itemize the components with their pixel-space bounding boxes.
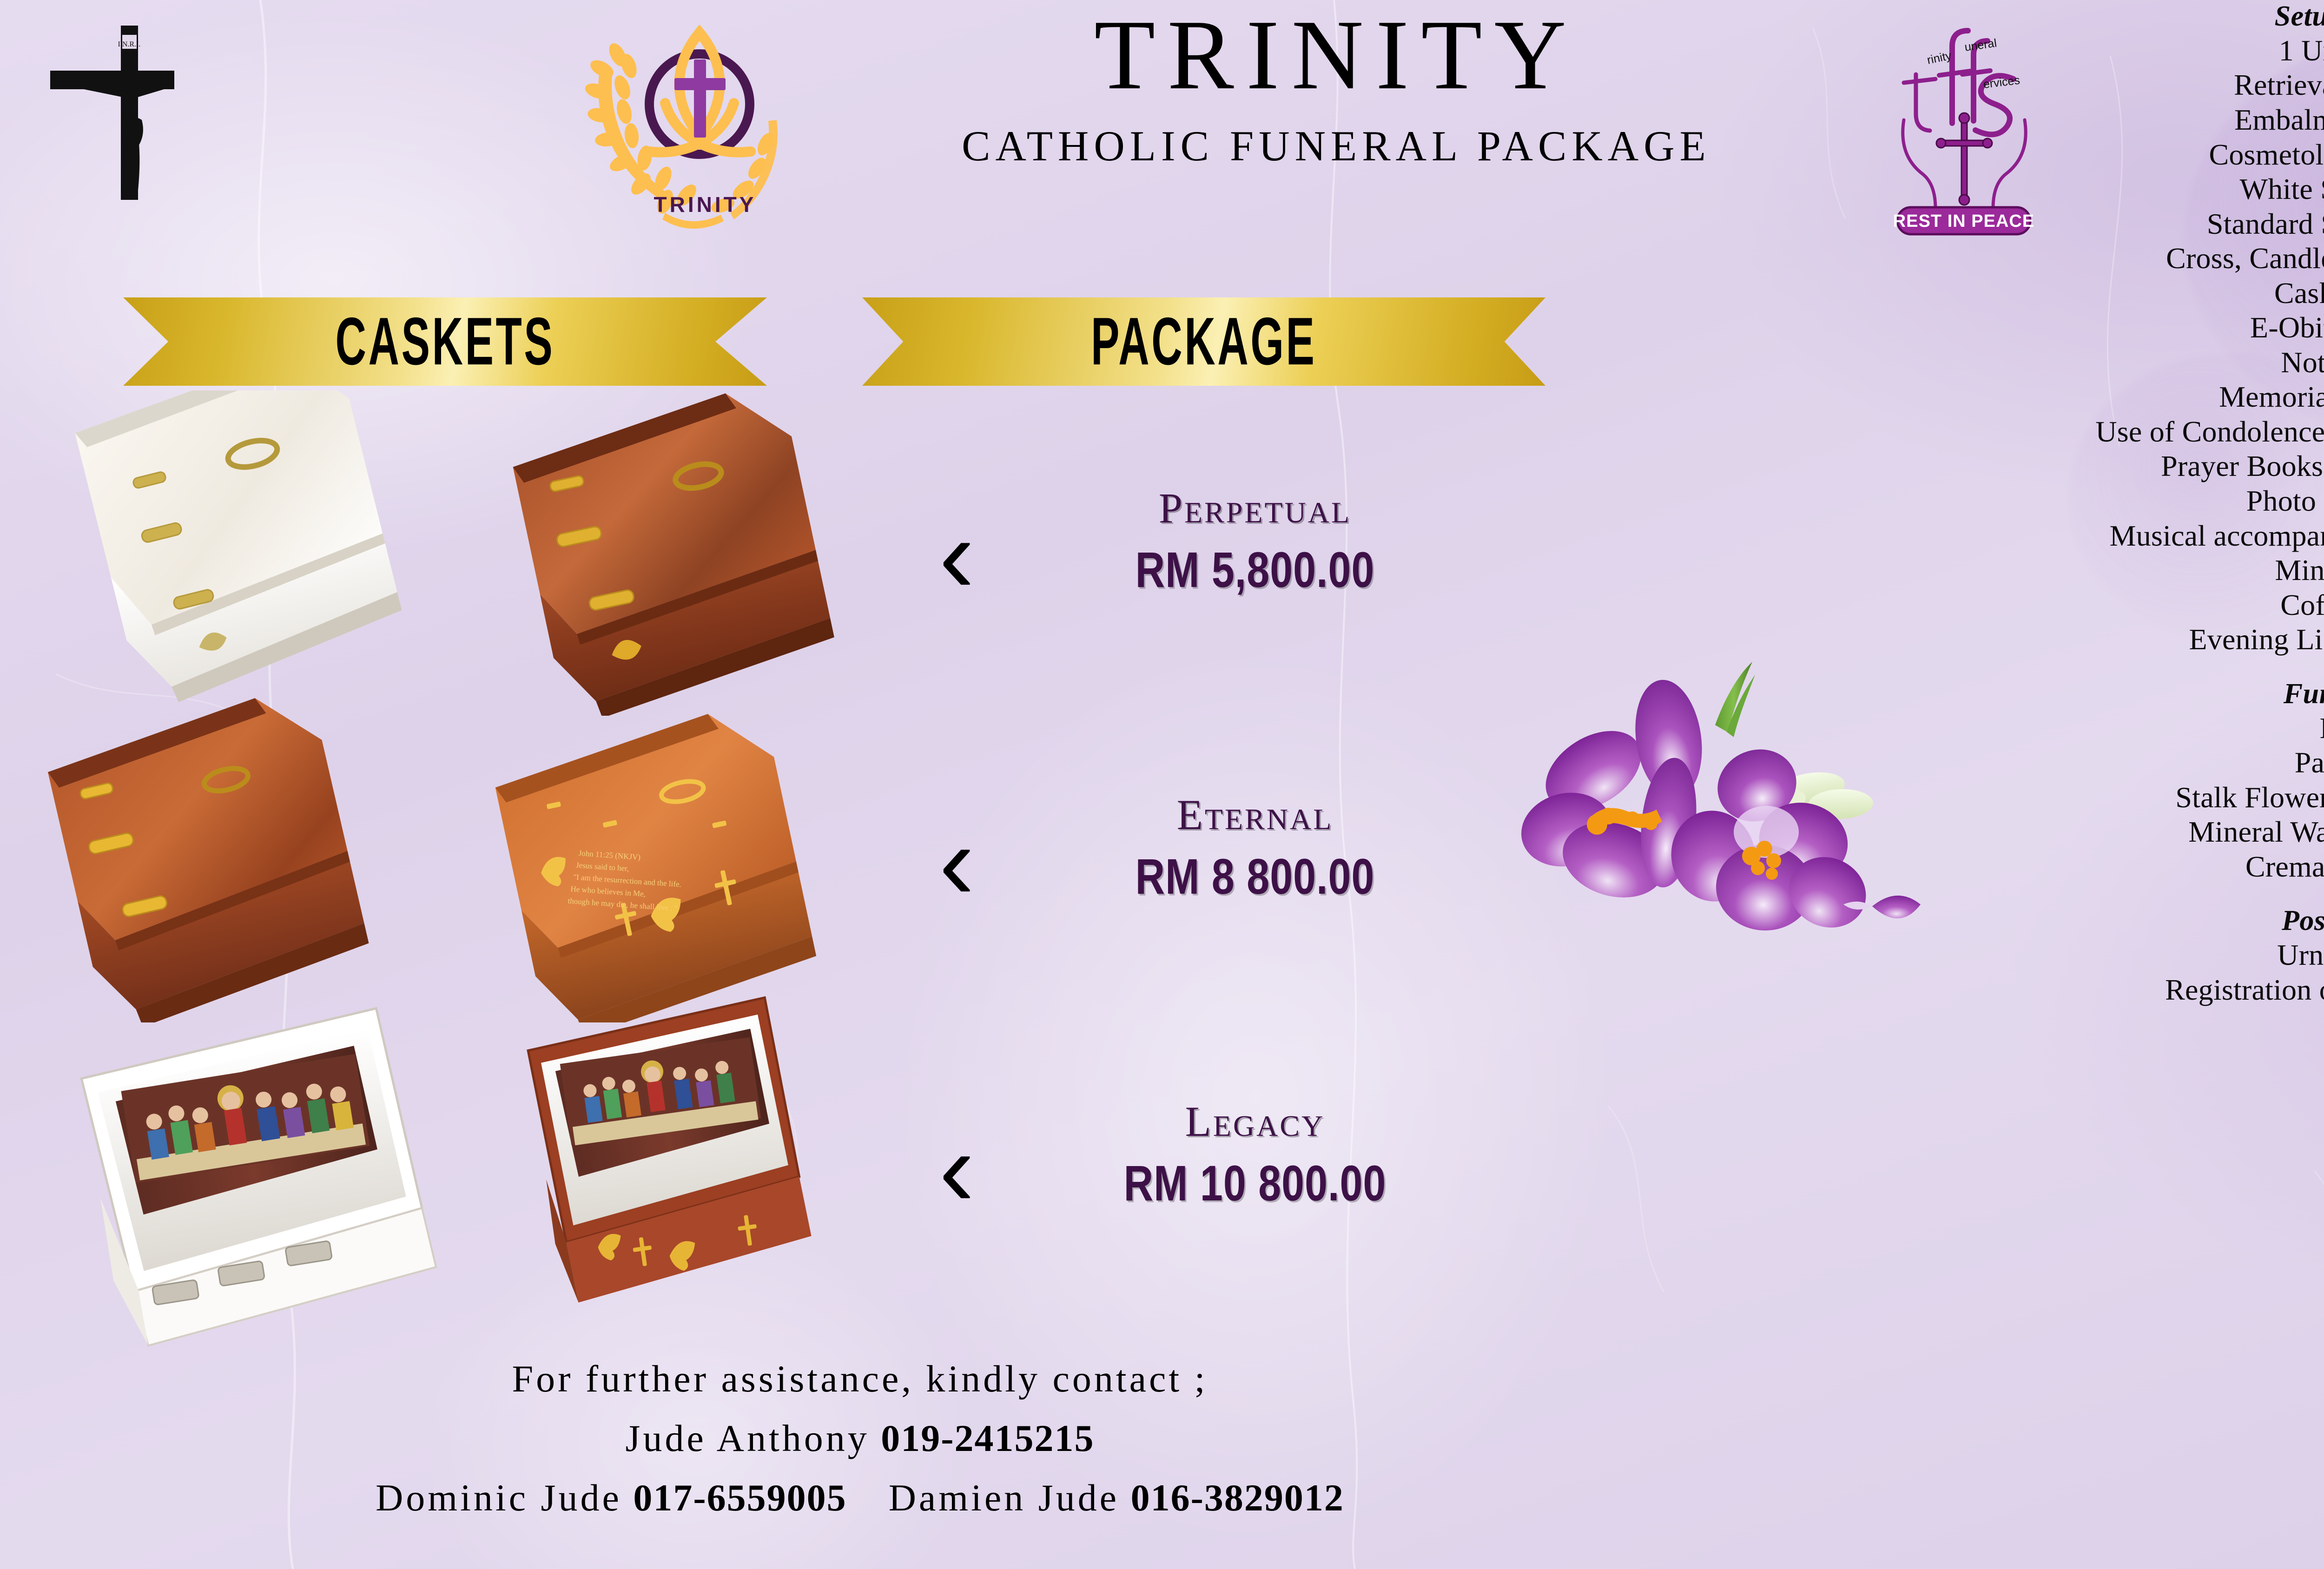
service-item: Cross, Candle Stands & Candles (1943, 241, 2324, 276)
service-item: E-Obituary Notice (1943, 310, 2324, 345)
service-item: Mineral Water / Face Towels (1943, 815, 2324, 850)
service-item: 1 Unit Casket (1943, 33, 2324, 68)
service-item: Cosmetology & Dressing (1943, 138, 2324, 172)
svg-text:I.N.R.I.: I.N.R.I. (118, 40, 141, 48)
package-perpetual-name: Perpetual (995, 483, 1515, 533)
spacer (1943, 884, 2324, 904)
poster-canvas: I.N.R.I. (0, 0, 2324, 1569)
page-subtitle: CATHOLIC FUNERAL PACKAGE (813, 121, 1859, 171)
trinity-logo: TRINITY (583, 5, 779, 237)
service-item: Stalk Flowers for Final Tribute (1943, 780, 2324, 815)
service-item: Hearse (1943, 711, 2324, 746)
casket-images-eternal: John 11:25 (NKJV) Jesus said to her, "I … (0, 697, 930, 1022)
service-item: White Satin Blanket (1943, 172, 2324, 207)
contact-name-2: Dominic Jude (376, 1477, 622, 1519)
contact-phone-2[interactable]: 017-6559005 (633, 1477, 846, 1519)
contact-phone-1[interactable]: 019-2415215 (881, 1417, 1094, 1459)
services-items-setup: 1 Unit CasketRetrieval of RemainsEmbalmi… (1943, 33, 2324, 657)
services-heading-funeral-day: Funeral Day (1943, 678, 2324, 711)
service-item: Prayer Books & Holy Water Font (1943, 449, 2324, 484)
trinity-logo-word: TRINITY (654, 192, 757, 217)
contact-name-1: Jude Anthony (625, 1417, 869, 1459)
package-legacy: Legacy RM 10 800.00 (995, 1097, 1515, 1202)
crucifix-icon: I.N.R.I. (26, 0, 174, 200)
service-item: Registration of Death Certificate (1943, 973, 2324, 1008)
page-title: TRINITY (813, 5, 1859, 105)
service-item: Cremation Charges (1943, 850, 2324, 884)
contact-person-3: Damien Jude 016-3829012 (889, 1476, 1344, 1520)
chevron-left-icon-legacy: ‹ (939, 1115, 975, 1222)
contact-person-2: Dominic Jude 017-6559005 (376, 1476, 847, 1520)
contact-person-1: Jude Anthony 019-2415215 (56, 1417, 1664, 1460)
package-legacy-price: RM 10 800.00 (995, 1154, 1515, 1212)
service-item: Musical accompaniment throughout wake (1943, 519, 2324, 554)
services-items-funeral-day: HearsePallbearersStalk Flowers for Final… (1943, 711, 2324, 884)
contact-phone-3[interactable]: 016-3829012 (1131, 1477, 1344, 1519)
service-item: Embalming / Dry Ice (1943, 103, 2324, 138)
crocus-flower-image (1515, 646, 1934, 962)
package-perpetual-price: RM 5,800.00 (995, 541, 1515, 599)
package-legacy-name: Legacy (995, 1097, 1515, 1146)
contact-intro: For further assistance, kindly contact ; (56, 1357, 1664, 1401)
contact-block: For further assistance, kindly contact ;… (56, 1357, 1664, 1520)
services-list: Setup of Wake 1 Unit CasketRetrieval of … (1943, 0, 2324, 1007)
service-item: Notice Board (1943, 345, 2324, 380)
casket-images-legacy (0, 995, 906, 1348)
service-item: Use of Condolence Token Box & Envelopes (1943, 415, 2324, 449)
casket-images-perpetual (0, 390, 930, 716)
ribbon-package-label: PACKAGE (1091, 303, 1316, 381)
services-items-post-funeral: Urn for AshesRegistration of Death Certi… (1943, 938, 2324, 1007)
service-item: Mineral Water (1943, 553, 2324, 588)
package-eternal: Eternal RM 8 800.00 (995, 790, 1515, 895)
service-item: Urn for Ashes (1943, 938, 2324, 973)
spacer (1943, 657, 2324, 678)
service-item: Coffee & Tea (1943, 588, 2324, 623)
service-item: Memorial Record Book (1943, 380, 2324, 415)
package-perpetual: Perpetual RM 5,800.00 (995, 483, 1515, 588)
service-item: Photo Enlargement (1943, 484, 2324, 519)
service-item: Evening Light Refreshments (1943, 622, 2324, 657)
contact-name-3: Damien Jude (889, 1477, 1119, 1519)
services-heading-setup: Setup of Wake (1943, 0, 2324, 33)
ribbon-caskets: CASKETS (123, 297, 767, 386)
chevron-left-icon-perpetual: ‹ (939, 502, 975, 609)
package-eternal-price: RM 8 800.00 (995, 848, 1515, 905)
package-eternal-name: Eternal (995, 790, 1515, 839)
service-item: Standard Set of Backdrop (1943, 207, 2324, 242)
service-item: Pallbearers (1943, 745, 2324, 780)
service-item: Casket Flower (1943, 276, 2324, 311)
ribbon-package: PACKAGE (862, 297, 1545, 386)
services-heading-post-funeral: Post Funeral (1943, 904, 2324, 938)
contact-row-bottom: Dominic Jude 017-6559005 Damien Jude 016… (56, 1476, 1664, 1520)
ribbon-caskets-label: CASKETS (336, 303, 555, 381)
service-item: Retrieval of Remains (1943, 68, 2324, 103)
chevron-left-icon-eternal: ‹ (939, 809, 975, 916)
title-block: TRINITY CATHOLIC FUNERAL PACKAGE (813, 5, 1859, 171)
